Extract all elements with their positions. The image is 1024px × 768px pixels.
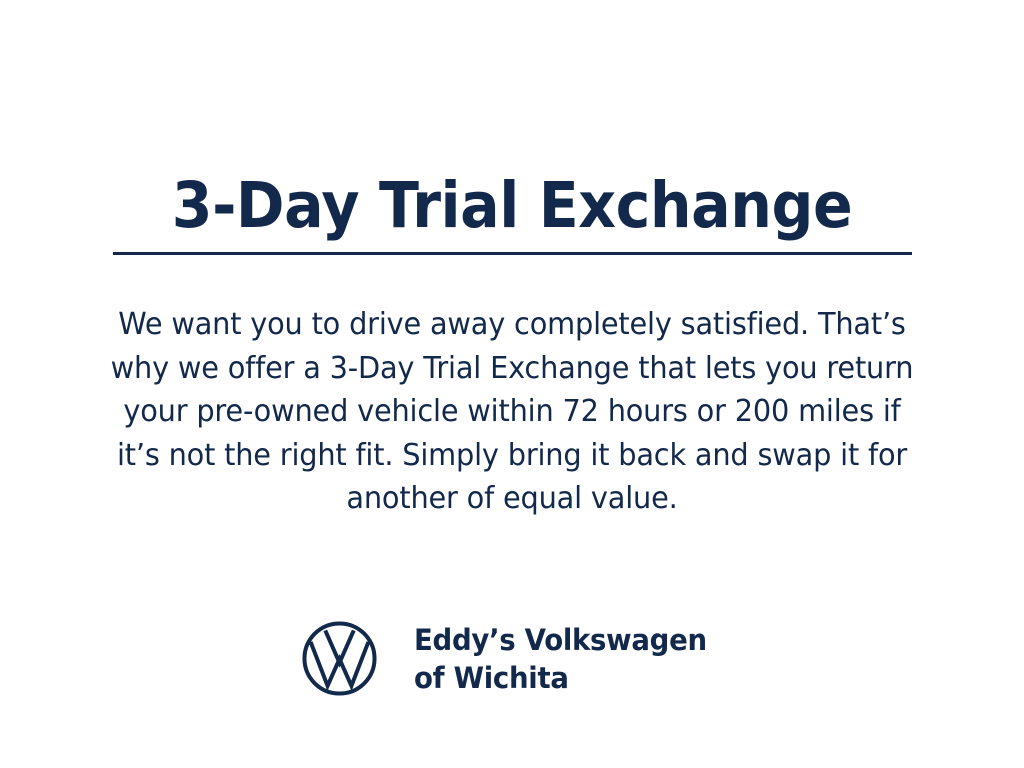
promo-slide: 3-Day Trial Exchange We want you to driv… [0,0,1024,768]
body-line: it’s not the right fit. Simply bring it … [80,434,944,478]
body-line: another of equal value. [80,477,944,521]
body-line: why we offer a 3-Day Trial Exchange that… [80,347,944,391]
body-line: your pre-owned vehicle within 72 hours o… [80,390,944,434]
volkswagen-roundel-icon [301,620,378,697]
body-line: We want you to drive away completely sat… [80,303,944,347]
dealer-name: Eddy’s Volkswagen of Wichita [414,621,707,697]
body-paragraph: We want you to drive away completely sat… [80,303,944,521]
page-title: 3-Day Trial Exchange [36,168,988,244]
dealer-name-line-2: of Wichita [414,659,707,697]
dealer-logo-lockup: Eddy’s Volkswagen of Wichita [0,620,1024,697]
dealer-name-line-1: Eddy’s Volkswagen [414,621,707,659]
title-divider [113,252,912,255]
logo-inner: Eddy’s Volkswagen of Wichita [301,620,722,697]
